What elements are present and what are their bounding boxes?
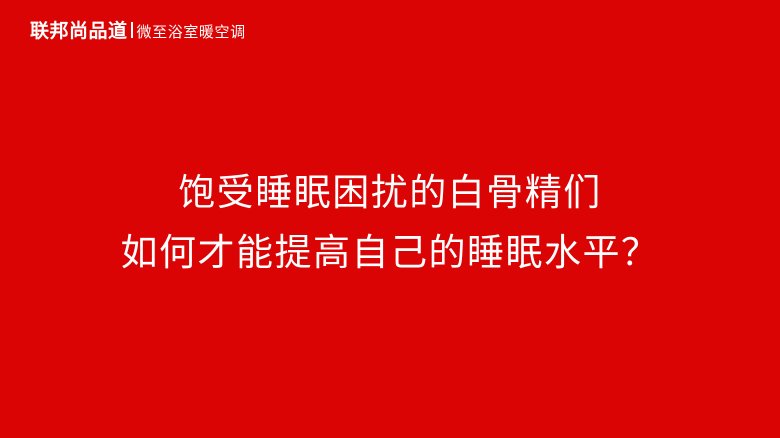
headline-block: 饱受睡眠困扰的白骨精们 如何才能提高自己的睡眠水平？ <box>0 163 780 283</box>
brand-name: 联邦尚品道 <box>30 22 128 41</box>
headline-line-1: 饱受睡眠困扰的白骨精们 <box>0 163 780 223</box>
brand-logo: 联邦尚品道 微至浴室暖空调 <box>30 21 246 41</box>
slide-canvas: 联邦尚品道 微至浴室暖空调 饱受睡眠困扰的白骨精们 如何才能提高自己的睡眠水平？ <box>0 0 780 438</box>
headline-line-2: 如何才能提高自己的睡眠水平？ <box>0 223 780 283</box>
brand-subtitle: 微至浴室暖空调 <box>137 25 246 40</box>
brand-divider-icon <box>131 22 133 38</box>
